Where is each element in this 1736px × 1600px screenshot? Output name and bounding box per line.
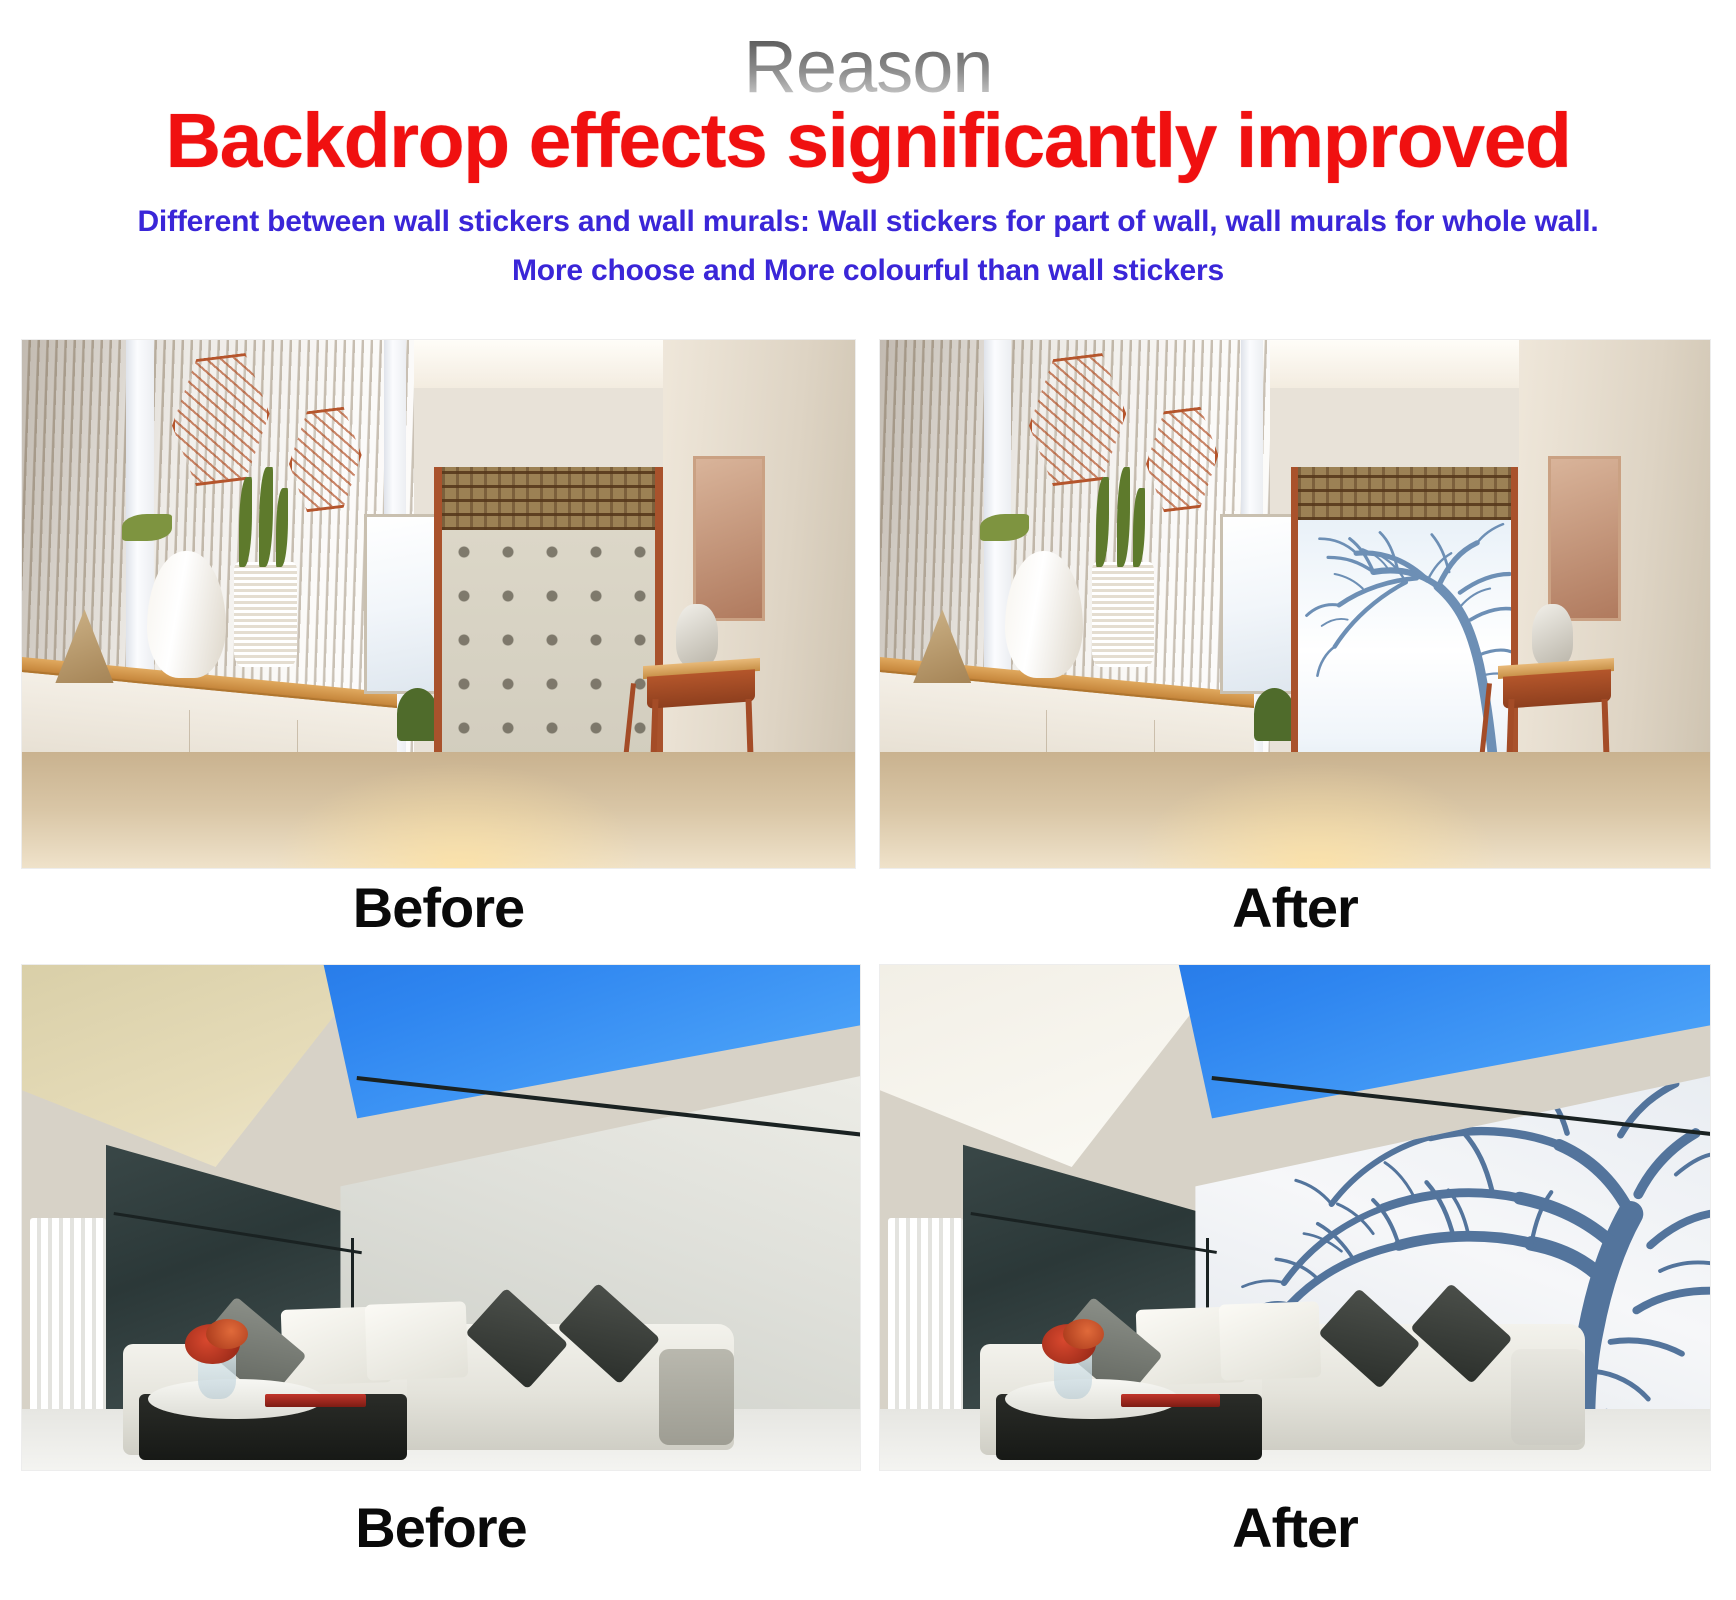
ceiling-white <box>880 965 1229 1167</box>
ribbed-planter <box>234 562 296 668</box>
book-red <box>1121 1394 1221 1407</box>
table-ornament <box>1532 604 1574 667</box>
cushion-2 <box>364 1302 467 1381</box>
leaf-yellow <box>980 514 1030 540</box>
radiator <box>30 1218 105 1430</box>
hallway-scene-after <box>880 340 1710 868</box>
caption-hallway-after: After <box>880 880 1710 936</box>
photo-hallway-before <box>22 340 855 868</box>
caption-lounge-before: Before <box>22 1500 860 1556</box>
potted-plant <box>397 688 439 741</box>
comparison-grid: Before <box>0 0 1736 1600</box>
window-opening <box>364 514 445 694</box>
caption-hallway-before: Before <box>22 880 855 936</box>
window-opening <box>1220 514 1301 694</box>
picture-frame <box>693 456 766 620</box>
flowers-orange <box>206 1319 248 1349</box>
cushion-2 <box>1219 1302 1321 1381</box>
caption-lounge-after: After <box>880 1500 1710 1556</box>
hallway-scene-before <box>22 340 855 868</box>
lounge-scene-after <box>880 965 1710 1470</box>
floor-light-reflection <box>272 762 647 868</box>
ceiling-beige <box>22 965 374 1167</box>
picture-frame <box>1548 456 1620 620</box>
lattice-screen <box>442 467 659 530</box>
potted-plant <box>1254 688 1296 741</box>
flowers-orange <box>1063 1319 1105 1349</box>
radiator <box>888 1218 963 1430</box>
book-red <box>265 1394 366 1407</box>
floor-light-reflection <box>1129 762 1503 868</box>
table-ornament <box>676 604 718 667</box>
sofa-arm <box>659 1349 734 1445</box>
photo-hallway-after <box>880 340 1710 868</box>
leaf-yellow <box>122 514 172 540</box>
lounge-scene-before <box>22 965 860 1470</box>
photo-lounge-before <box>22 965 860 1470</box>
sofa-arm <box>1511 1349 1586 1445</box>
ribbed-planter <box>1092 562 1154 668</box>
lattice-screen <box>1298 467 1514 520</box>
photo-lounge-after <box>880 965 1710 1470</box>
